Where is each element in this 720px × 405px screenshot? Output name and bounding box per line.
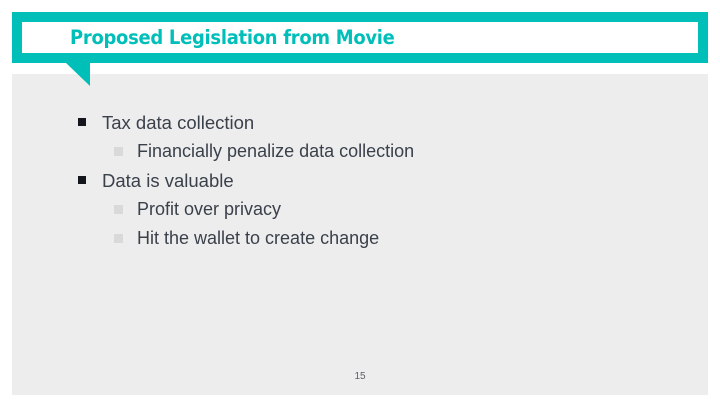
light-square-bullet-icon	[114, 147, 123, 156]
list-item: Financially penalize data collection	[0, 137, 720, 166]
filled-square-bullet-icon	[78, 176, 86, 184]
list-item-label: Tax data collection	[102, 108, 254, 137]
light-square-bullet-icon	[114, 205, 123, 214]
speech-bubble-tail-icon	[66, 63, 90, 86]
bullet-list: Tax data collection Financially penalize…	[0, 108, 720, 253]
list-item: Profit over privacy	[0, 195, 720, 224]
page-title: Proposed Legislation from Movie	[70, 26, 395, 49]
filled-square-bullet-icon	[78, 118, 86, 126]
list-item: Hit the wallet to create change	[0, 224, 720, 253]
light-square-bullet-icon	[114, 234, 123, 243]
list-item-label: Profit over privacy	[137, 195, 281, 224]
slide-title-bubble-inner: Proposed Legislation from Movie	[22, 22, 698, 53]
list-item: Tax data collection	[0, 108, 720, 137]
list-item-label: Hit the wallet to create change	[137, 224, 379, 253]
slide-canvas: Proposed Legislation from Movie Tax data…	[0, 0, 720, 405]
slide-title-bubble: Proposed Legislation from Movie	[12, 12, 708, 63]
page-number: 15	[0, 371, 720, 382]
list-item-label: Financially penalize data collection	[137, 137, 414, 166]
list-item: Data is valuable	[0, 166, 720, 195]
list-item-label: Data is valuable	[102, 166, 234, 195]
